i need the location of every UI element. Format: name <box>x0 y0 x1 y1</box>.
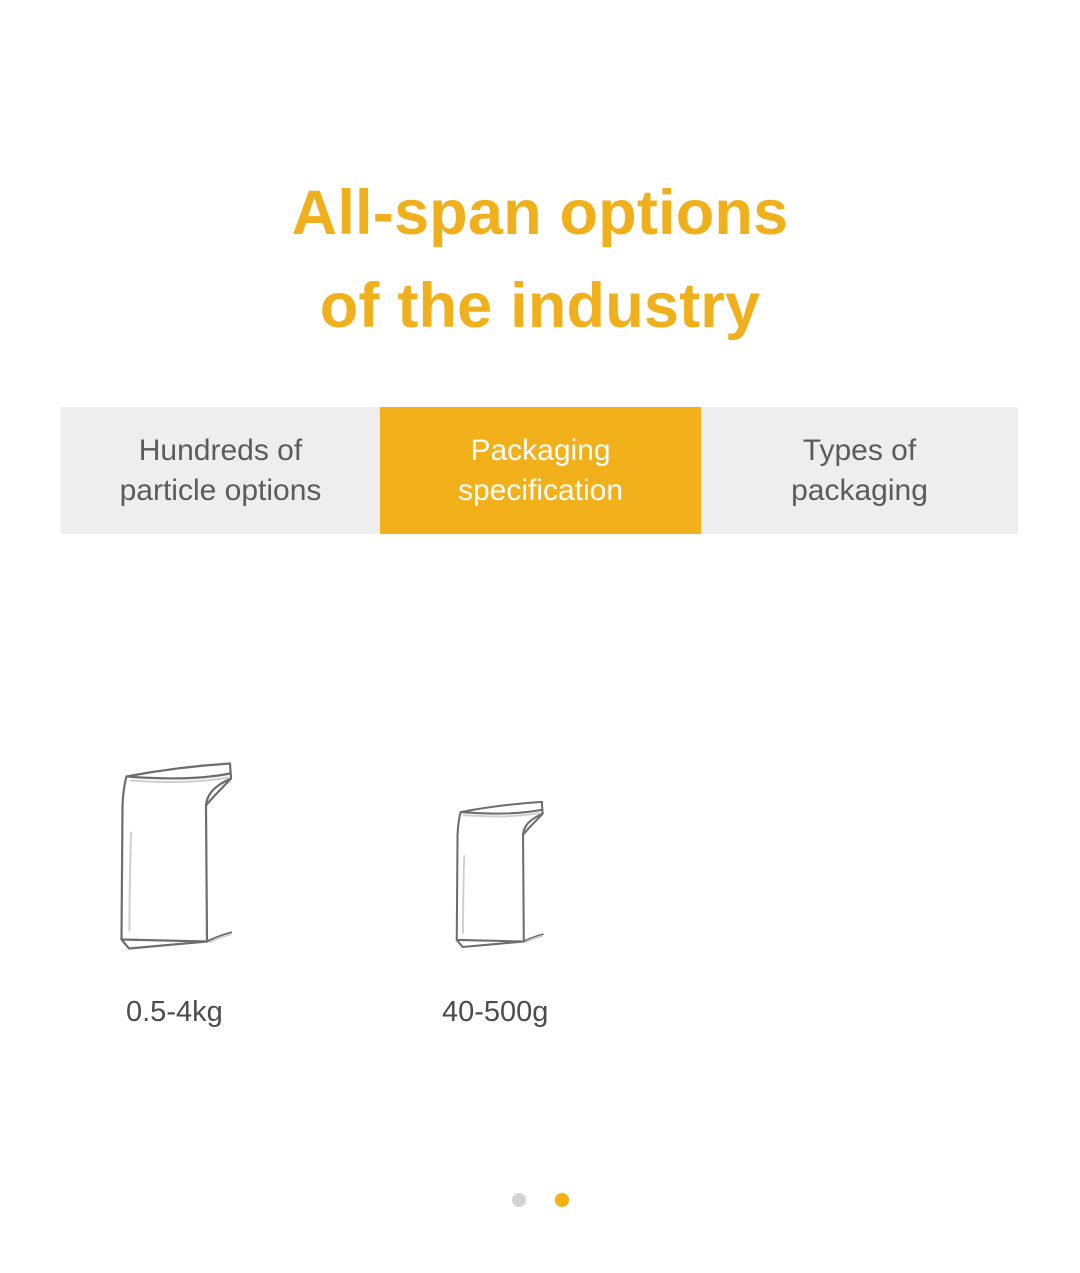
tab-packaging-specification[interactable]: Packaging specification <box>380 407 701 534</box>
tab-types-of-packaging[interactable]: Types of packaging <box>701 407 1018 534</box>
list-item[interactable]: 40-500g <box>454 740 589 1040</box>
tab-bar: Hundreds of particle options Packaging s… <box>61 407 1018 534</box>
list-item[interactable]: 0.5-4kg <box>118 740 278 1040</box>
page-title: All-span options of the industry <box>0 167 1080 352</box>
stand-up-pouch-bag-icon <box>118 762 234 954</box>
carousel-pagination <box>0 1193 1080 1207</box>
packaging-options-list: 0.5-4kg 40-500g <box>0 740 1080 1040</box>
product-label: 40-500g <box>442 998 548 1027</box>
pagination-dot-2[interactable] <box>555 1193 569 1207</box>
pagination-dot-1[interactable] <box>512 1193 526 1207</box>
product-label: 0.5-4kg <box>126 998 223 1027</box>
tab-hundreds-of-particle-options[interactable]: Hundreds of particle options <box>61 407 380 534</box>
stand-up-pouch-bag-icon <box>454 798 545 954</box>
